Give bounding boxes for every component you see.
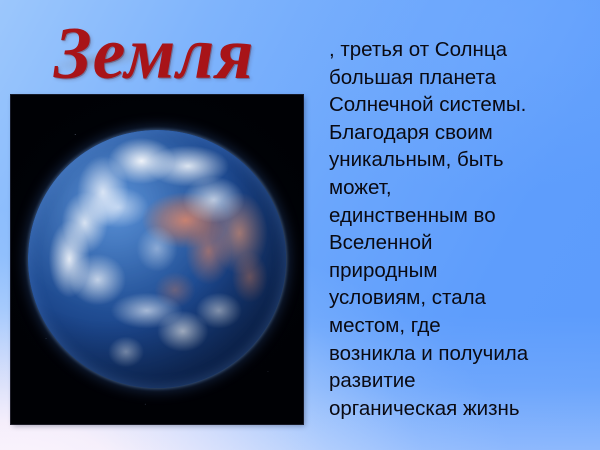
body-line: Вселенной <box>329 229 597 257</box>
body-line: Благодаря своим <box>329 119 597 147</box>
earth-globe-image <box>28 130 286 388</box>
body-line: единственным во <box>329 202 597 230</box>
body-line: местом, где <box>329 312 597 340</box>
body-line: , третья от Солнца <box>329 36 597 64</box>
body-line: может, <box>329 174 597 202</box>
body-line: органическая жизнь <box>329 395 597 423</box>
page-title: Земля <box>54 8 254 100</box>
body-line: развитие <box>329 367 597 395</box>
body-text-block: , третья от Солнца большая планета Солне… <box>329 36 597 422</box>
body-line: уникальным, быть <box>329 146 597 174</box>
body-line: природным <box>329 257 597 285</box>
body-line: Солнечной системы. <box>329 91 597 119</box>
globe-atmosphere-rim <box>28 130 286 388</box>
body-line: условиям, стала <box>329 284 597 312</box>
earth-image-panel <box>11 95 303 424</box>
presentation-slide: Земля , третья от Солнца большая планета… <box>0 0 600 450</box>
title-area: Земля <box>54 8 354 98</box>
body-line: большая планета <box>329 64 597 92</box>
body-line: возникла и получила <box>329 340 597 368</box>
